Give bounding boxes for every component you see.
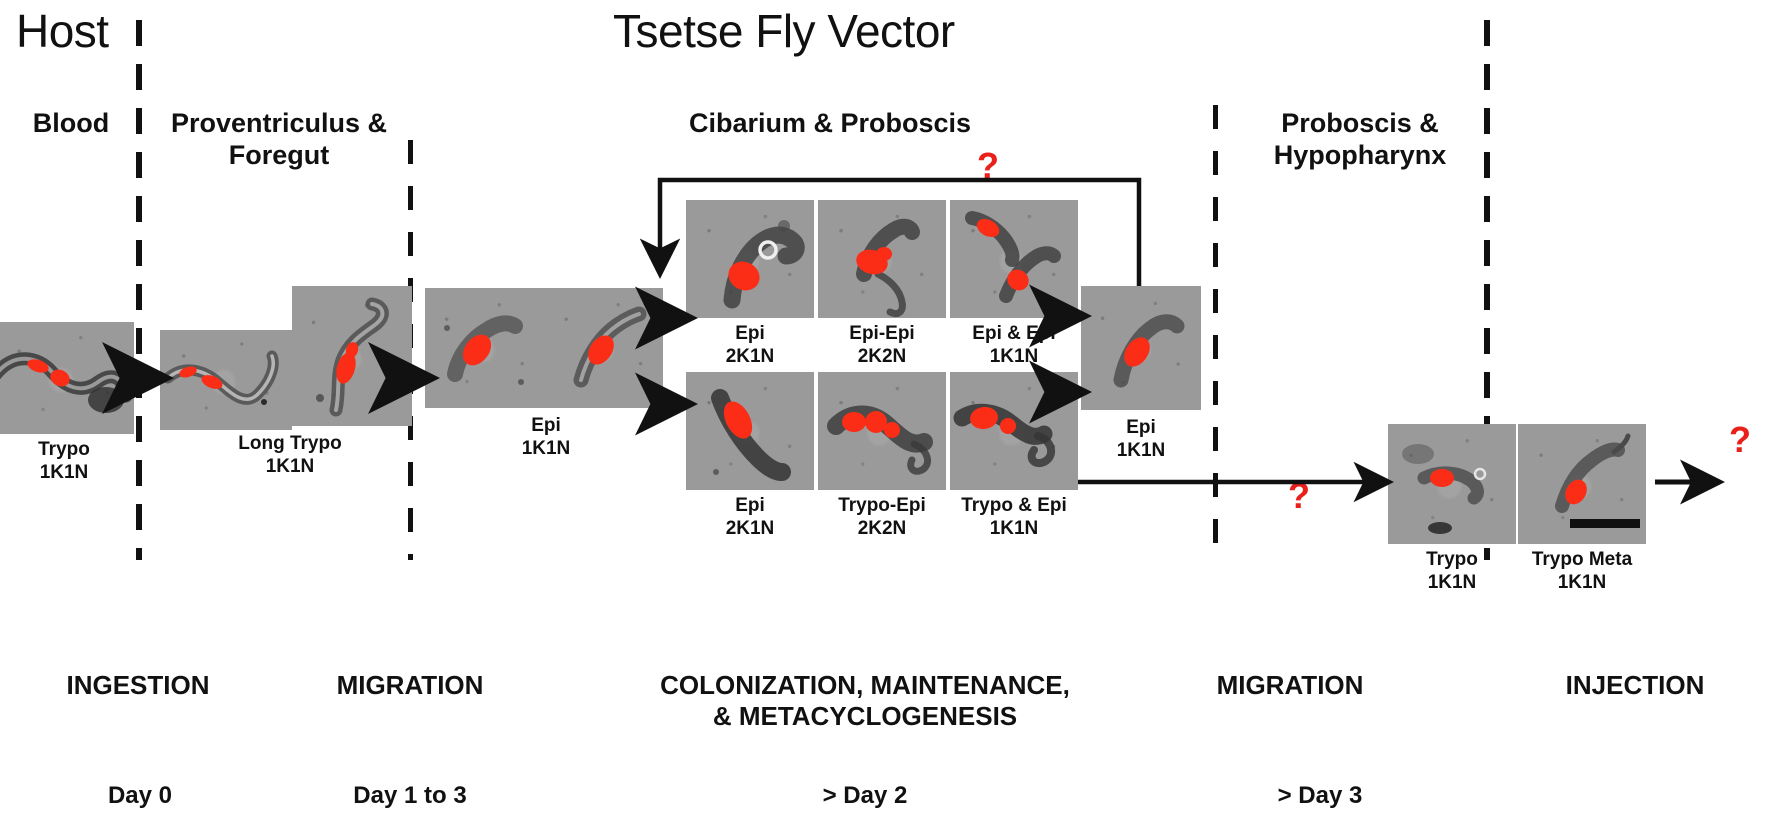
stage-label-migration-1: MIGRATION — [300, 670, 520, 701]
figure-canvas: Host Tsetse Fly Vector Blood Proventricu… — [0, 0, 1772, 827]
day-label-day-gt2: > Day 2 — [760, 782, 970, 810]
stage-label-colonization: COLONIZATION, MAINTENANCE, & METACYCLOGE… — [600, 670, 1130, 732]
day-label-day0: Day 0 — [50, 782, 230, 810]
stage-label-migration-2: MIGRATION — [1180, 670, 1400, 701]
stage-label-injection: INJECTION — [1510, 670, 1760, 701]
day-label-day-gt3: > Day 3 — [1215, 782, 1425, 810]
stage-label-ingestion: INGESTION — [22, 670, 254, 701]
day-label-day1to3: Day 1 to 3 — [300, 782, 520, 810]
